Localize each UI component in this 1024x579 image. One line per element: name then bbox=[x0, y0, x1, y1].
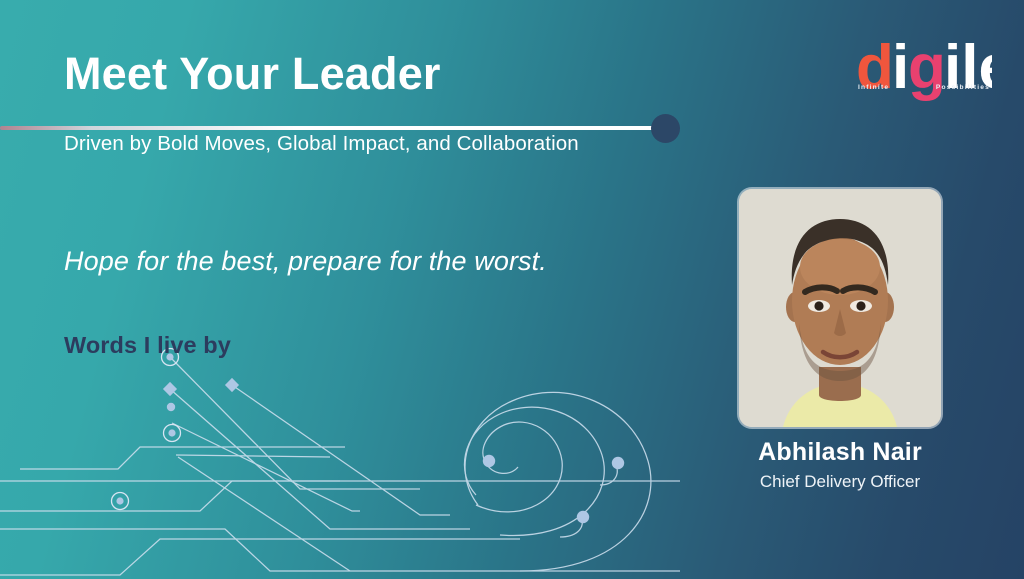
circuit-node-group bbox=[112, 349, 625, 524]
page-subtitle: Driven by Bold Moves, Global Impact, and… bbox=[64, 132, 579, 156]
leader-quote: Hope for the best, prepare for the worst… bbox=[64, 246, 547, 277]
leader-role: Chief Delivery Officer bbox=[739, 472, 941, 492]
page-title: Meet Your Leader bbox=[64, 50, 441, 97]
logo-tagline-left: Infinite bbox=[858, 84, 889, 91]
circuit-decoration bbox=[0, 339, 680, 579]
leader-portrait-photo bbox=[739, 189, 941, 427]
leader-profile-card: Meet Your Leader Driven by Bold Moves, G… bbox=[0, 0, 1024, 579]
digile-logo: d i g ile bbox=[856, 36, 992, 102]
logo-letters-ile: ile bbox=[944, 36, 992, 102]
logo-tagline-right: Possibilities bbox=[936, 84, 990, 91]
divider-line bbox=[0, 126, 656, 130]
logo-tagline: Infinite Possibilities bbox=[858, 84, 990, 91]
logo-letter-i: i bbox=[892, 36, 909, 102]
leader-name: Abhilash Nair bbox=[739, 438, 941, 467]
logo-letter-g: g bbox=[908, 36, 946, 102]
logo-letter-d: d bbox=[856, 36, 894, 102]
divider-end-dot bbox=[651, 114, 680, 143]
quote-label: Words I live by bbox=[64, 332, 231, 359]
